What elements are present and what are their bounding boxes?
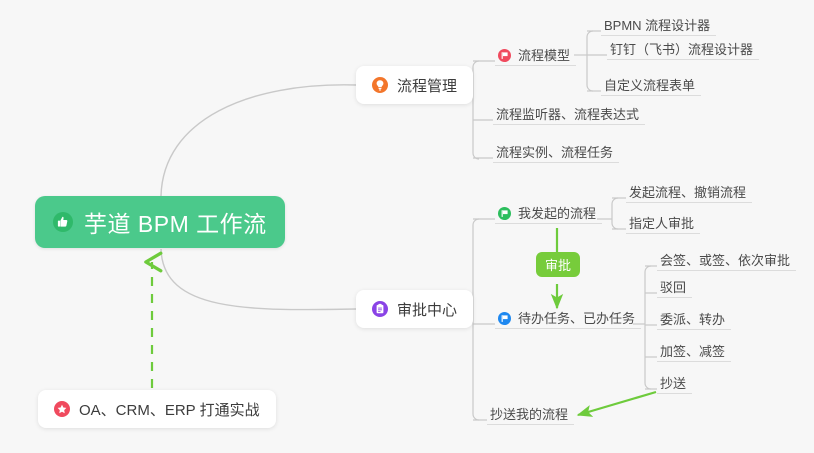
node-process-listener-expression[interactable]: 流程监听器、流程表达式 (493, 104, 645, 125)
edge-my-initiated-bracket (612, 198, 618, 229)
node-delegate-transfer[interactable]: 委派、转办 (657, 309, 731, 330)
lightbulb-icon (372, 77, 388, 93)
mindmap-canvas: 芋道 BPM 工作流 流程管理 流程模型 BPMN 流程设计器 钉钉（飞书 (0, 0, 814, 453)
edge-process-management-bracket (473, 61, 479, 159)
node-assignee-approval[interactable]: 指定人审批 (626, 213, 700, 234)
node-reject[interactable]: 驳回 (657, 277, 692, 298)
node-countersign-orsign-sequential-label: 会签、或签、依次审批 (660, 254, 790, 267)
node-approval-center[interactable]: 审批中心 (356, 290, 473, 328)
node-cc-to-me-process[interactable]: 抄送我的流程 (487, 404, 574, 425)
annotation-approval-tag-label: 审批 (545, 255, 571, 274)
node-process-instance-task[interactable]: 流程实例、流程任务 (493, 142, 619, 163)
node-my-initiated-process-label: 我发起的流程 (518, 207, 596, 220)
node-my-initiated-process[interactable]: 我发起的流程 (495, 203, 602, 224)
node-add-remove-sign[interactable]: 加签、减签 (657, 341, 731, 362)
node-dingtalk-feishu-designer-label: 钉钉（飞书）流程设计器 (610, 43, 753, 56)
node-dingtalk-feishu-designer[interactable]: 钉钉（飞书）流程设计器 (607, 39, 759, 60)
clipboard-icon (372, 301, 388, 317)
node-custom-process-form-label: 自定义流程表单 (604, 79, 695, 92)
annotation-approval-tag[interactable]: 审批 (536, 252, 580, 277)
thumbs-up-icon (53, 212, 73, 232)
flag-icon (498, 49, 511, 62)
node-countersign-orsign-sequential[interactable]: 会签、或签、依次审批 (657, 250, 796, 271)
node-approval-center-label: 审批中心 (397, 299, 457, 320)
node-process-model-label: 流程模型 (518, 49, 570, 62)
node-process-management-label: 流程管理 (397, 75, 457, 96)
annotation-integration-note-label: OA、CRM、ERP 打通实战 (79, 399, 260, 420)
edge-process-model-bracket (587, 31, 593, 91)
edge-approval-center-bracket (473, 219, 479, 420)
node-bpmn-designer-label: BPMN 流程设计器 (604, 19, 710, 32)
node-process-instance-task-label: 流程实例、流程任务 (496, 146, 613, 159)
node-assignee-approval-label: 指定人审批 (629, 217, 694, 230)
edge-root-to-process-management (161, 85, 356, 196)
flag-icon (498, 207, 511, 220)
node-todo-done-tasks-label: 待办任务、已办任务 (518, 312, 635, 325)
node-todo-done-tasks[interactable]: 待办任务、已办任务 (495, 308, 641, 329)
node-cc-to-me-process-label: 抄送我的流程 (490, 408, 568, 421)
node-process-management[interactable]: 流程管理 (356, 66, 473, 104)
star-icon (54, 401, 70, 417)
edge-root-to-approval-center (161, 249, 356, 310)
node-process-listener-expression-label: 流程监听器、流程表达式 (496, 108, 639, 121)
node-cc-label: 抄送 (660, 377, 686, 390)
flag-icon (498, 312, 511, 325)
node-add-remove-sign-label: 加签、减签 (660, 345, 725, 358)
node-reject-label: 驳回 (660, 281, 686, 294)
node-bpmn-designer[interactable]: BPMN 流程设计器 (601, 15, 716, 36)
node-start-cancel-process[interactable]: 发起流程、撤销流程 (626, 182, 752, 203)
node-delegate-transfer-label: 委派、转办 (660, 313, 725, 326)
node-process-model[interactable]: 流程模型 (495, 45, 576, 66)
node-cc[interactable]: 抄送 (657, 373, 692, 394)
node-start-cancel-process-label: 发起流程、撤销流程 (629, 186, 746, 199)
annotation-arrow-cc-link (578, 392, 656, 415)
edge-todo-done-bracket (645, 266, 651, 389)
annotation-integration-note[interactable]: OA、CRM、ERP 打通实战 (38, 390, 276, 428)
node-custom-process-form[interactable]: 自定义流程表单 (601, 75, 701, 96)
root-node[interactable]: 芋道 BPM 工作流 (35, 196, 285, 248)
root-label: 芋道 BPM 工作流 (84, 205, 267, 239)
